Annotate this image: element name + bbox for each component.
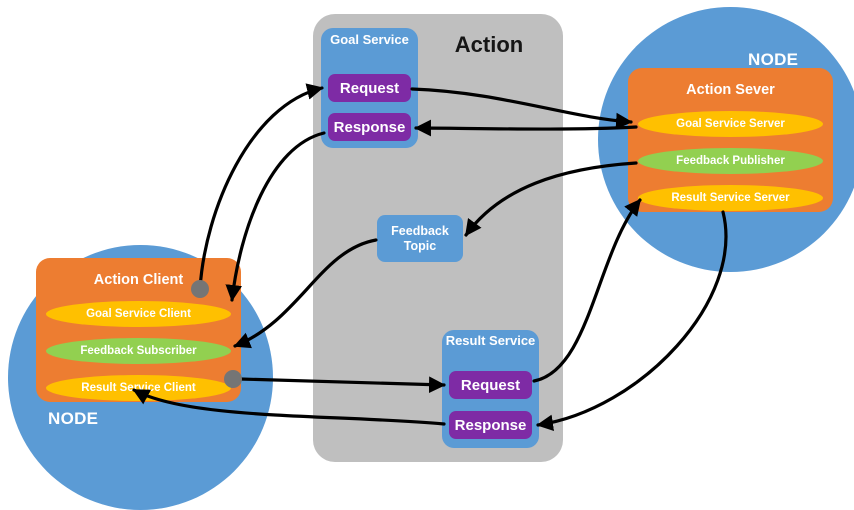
- edge-goal-response-to-client: [232, 133, 324, 300]
- goal-response-box[interactable]: Response: [328, 113, 411, 141]
- result-response-box[interactable]: Response: [449, 411, 532, 439]
- pill-goal-service-client[interactable]: Goal Service Client: [46, 301, 231, 327]
- server-node-label: NODE: [748, 50, 798, 70]
- action-diagram: Action NODE Action Sever Goal Service Se…: [0, 0, 854, 480]
- action-server-title: Action Sever: [628, 82, 833, 98]
- pill-goal-service-server[interactable]: Goal Service Server: [638, 111, 823, 137]
- goal-service-title: Goal Service: [321, 33, 418, 48]
- result-service-title: Result Service: [442, 334, 539, 349]
- action-panel-title: Action: [424, 32, 554, 58]
- pill-result-service-server[interactable]: Result Service Server: [638, 185, 823, 211]
- client-node-label: NODE: [48, 409, 98, 429]
- pill-feedback-subscriber[interactable]: Feedback Subscriber: [46, 338, 231, 364]
- pill-feedback-publisher[interactable]: Feedback Publisher: [638, 148, 823, 174]
- result-request-box[interactable]: Request: [449, 371, 532, 399]
- goal-request-box[interactable]: Request: [328, 74, 411, 102]
- feedback-topic-box[interactable]: Feedback Topic: [377, 215, 463, 262]
- action-client-title: Action Client: [36, 272, 241, 288]
- pill-result-service-client[interactable]: Result Service Client: [46, 375, 231, 401]
